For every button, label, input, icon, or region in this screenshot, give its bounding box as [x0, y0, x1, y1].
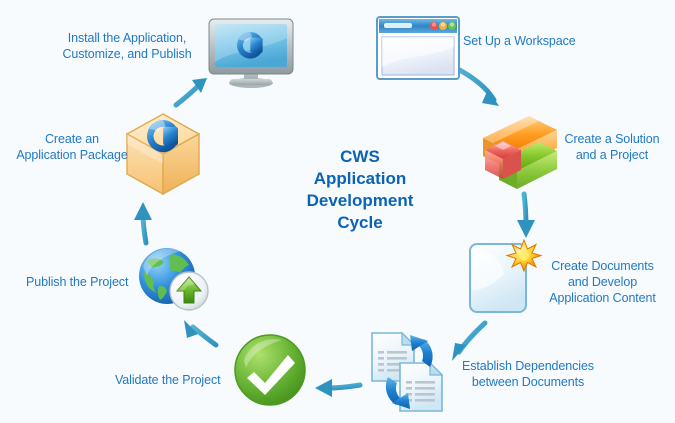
arrow-dependencies-to-validate [315, 379, 360, 397]
label-publish-project: Publish the Project [26, 274, 144, 290]
arrow-validate-to-publish [184, 320, 216, 345]
window-icon [376, 16, 460, 82]
green-check-icon [232, 332, 308, 408]
arrow-publish-to-package [134, 202, 152, 243]
solution-block-icon [477, 112, 563, 194]
cycle-diagram: Install the Application, Customize, and … [0, 0, 675, 423]
label-install-application: Install the Application, Customize, and … [52, 30, 202, 62]
label-establish-dependencies: Establish Dependencies between Documents [448, 358, 608, 390]
document-dependencies-icon [366, 327, 458, 415]
arrow-solution-to-documents [517, 194, 535, 238]
label-validate-project: Validate the Project [115, 372, 240, 388]
label-create-application-package: Create an Application Package [16, 131, 128, 163]
label-create-documents: Create Documents and Develop Application… [530, 258, 675, 306]
monitor-icon [200, 6, 300, 96]
page-title: CWS Application Development Cycle [285, 146, 435, 234]
package-box-icon [121, 106, 205, 202]
label-create-solution-project: Create a Solution and a Project [552, 131, 672, 163]
globe-upload-icon [137, 246, 213, 314]
label-set-up-workspace: Set Up a Workspace [463, 33, 623, 49]
